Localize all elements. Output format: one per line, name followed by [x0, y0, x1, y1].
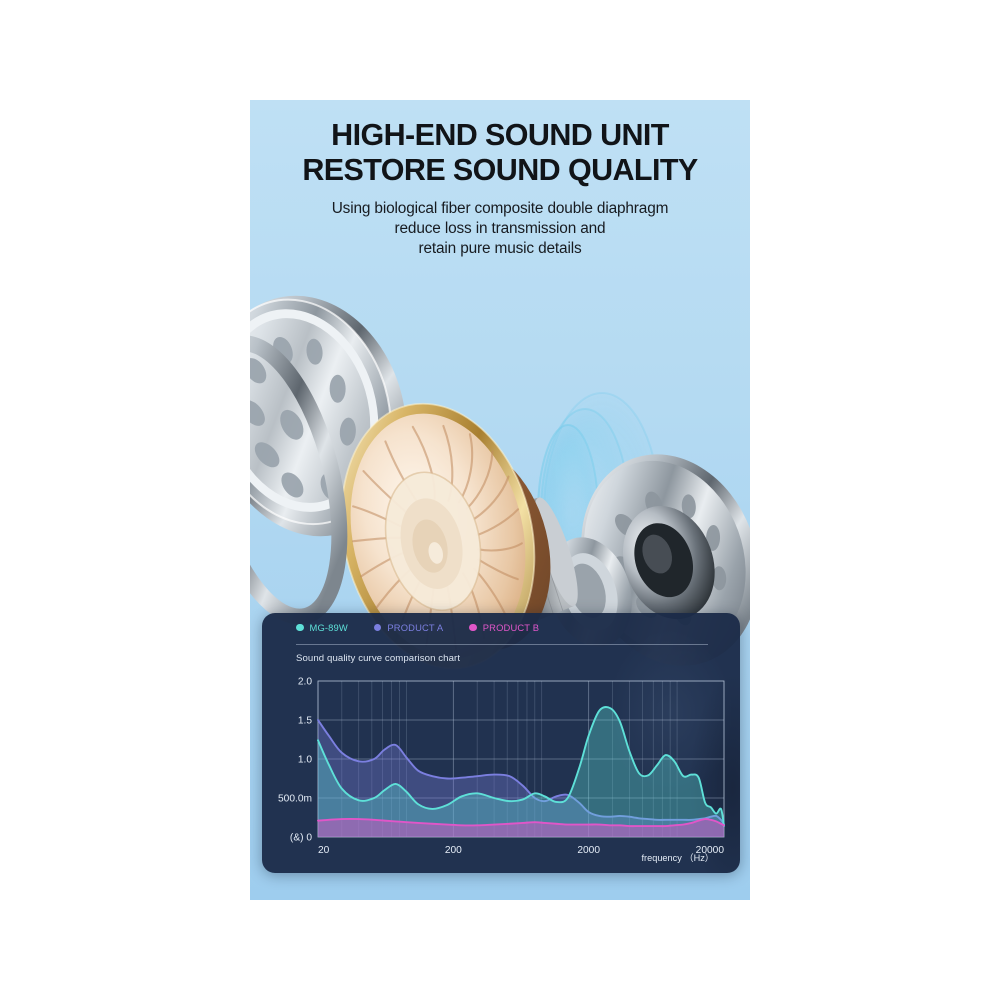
x-tick-200: 200 [445, 845, 462, 856]
product-promo-panel: HIGH-END SOUND UNIT RESTORE SOUND QUALIT… [250, 100, 750, 900]
chart-series-layer [318, 707, 724, 837]
y-tick-2: 1.0 [298, 755, 312, 766]
subheadline-line-2: reduce loss in transmission and [250, 219, 750, 239]
sound-quality-chart-card: MG-89W PRODUCT A PRODUCT B Sound quality… [262, 613, 740, 873]
subheadline-line-1: Using biological fiber composite double … [250, 199, 750, 219]
subheadline-line-3: retain pure music details [250, 239, 750, 259]
screenshot-canvas: HIGH-END SOUND UNIT RESTORE SOUND QUALIT… [0, 0, 1000, 1000]
chart-y-tick-labels: (&) 0500.0m1.01.52.0 [278, 677, 312, 844]
y-tick-0: (&) 0 [290, 833, 312, 844]
x-tick-20: 20 [318, 845, 330, 856]
frequency-response-chart: 20200200020000 (&) 0500.0m1.01.52.0 freq… [262, 613, 740, 873]
hero-subheadline: Using biological fiber composite double … [250, 199, 750, 259]
chart-x-axis-label: frequency （Hz） [641, 853, 714, 863]
y-tick-3: 1.5 [298, 716, 312, 727]
y-tick-1: 500.0m [278, 794, 312, 805]
hero-headline-block: HIGH-END SOUND UNIT RESTORE SOUND QUALIT… [250, 118, 750, 259]
y-tick-4: 2.0 [298, 677, 312, 688]
headline-line-2: RESTORE SOUND QUALITY [250, 153, 750, 188]
headline-line-1: HIGH-END SOUND UNIT [250, 118, 750, 153]
x-tick-2000: 2000 [577, 845, 600, 856]
